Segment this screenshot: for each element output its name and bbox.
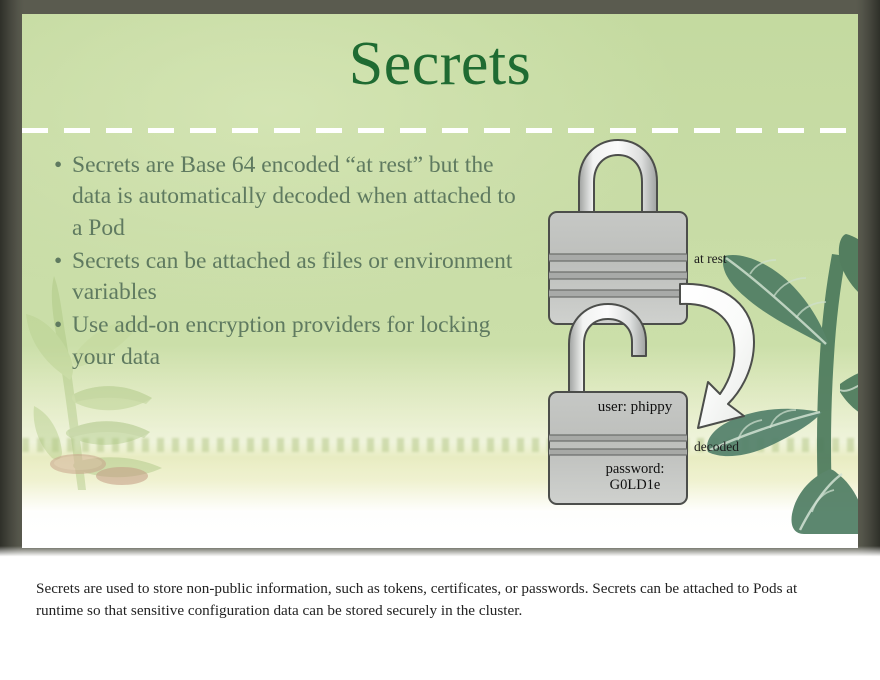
slide-canvas: Secrets • Secrets are Base 64 encoded “a… bbox=[22, 14, 858, 548]
bullet-text: Use add-on encryption providers for lock… bbox=[72, 312, 490, 369]
secret-user-text: user: phippy bbox=[560, 399, 710, 416]
pebbles-icon bbox=[48, 452, 158, 486]
lock-diagram-graphic bbox=[522, 132, 822, 512]
bullet-item: • Use add-on encryption providers for lo… bbox=[50, 310, 520, 373]
slide-frame: Secrets • Secrets are Base 64 encoded “a… bbox=[0, 0, 880, 560]
secret-password-text: password: G0LD1e bbox=[560, 461, 710, 493]
bullet-text: Secrets can be attached as files or envi… bbox=[72, 248, 512, 305]
bullet-list: • Secrets are Base 64 encoded “at rest” … bbox=[50, 150, 520, 375]
slide-title: Secrets bbox=[22, 32, 858, 97]
slide-caption: Secrets are used to store non-public inf… bbox=[36, 578, 848, 621]
bullet-marker-icon: • bbox=[54, 150, 62, 181]
secrets-lock-diagram: user: phippy password: G0LD1e at rest de… bbox=[522, 132, 822, 512]
closed-padlock-icon bbox=[549, 140, 687, 324]
bullet-marker-icon: • bbox=[54, 310, 62, 341]
bullet-marker-icon: • bbox=[54, 246, 62, 277]
bullet-item: • Secrets can be attached as files or en… bbox=[50, 246, 520, 309]
bullet-text: Secrets are Base 64 encoded “at rest” bu… bbox=[72, 152, 516, 241]
at-rest-label: at rest bbox=[694, 251, 727, 267]
bullet-item: • Secrets are Base 64 encoded “at rest” … bbox=[50, 150, 520, 244]
decoded-label: decoded bbox=[694, 439, 739, 455]
